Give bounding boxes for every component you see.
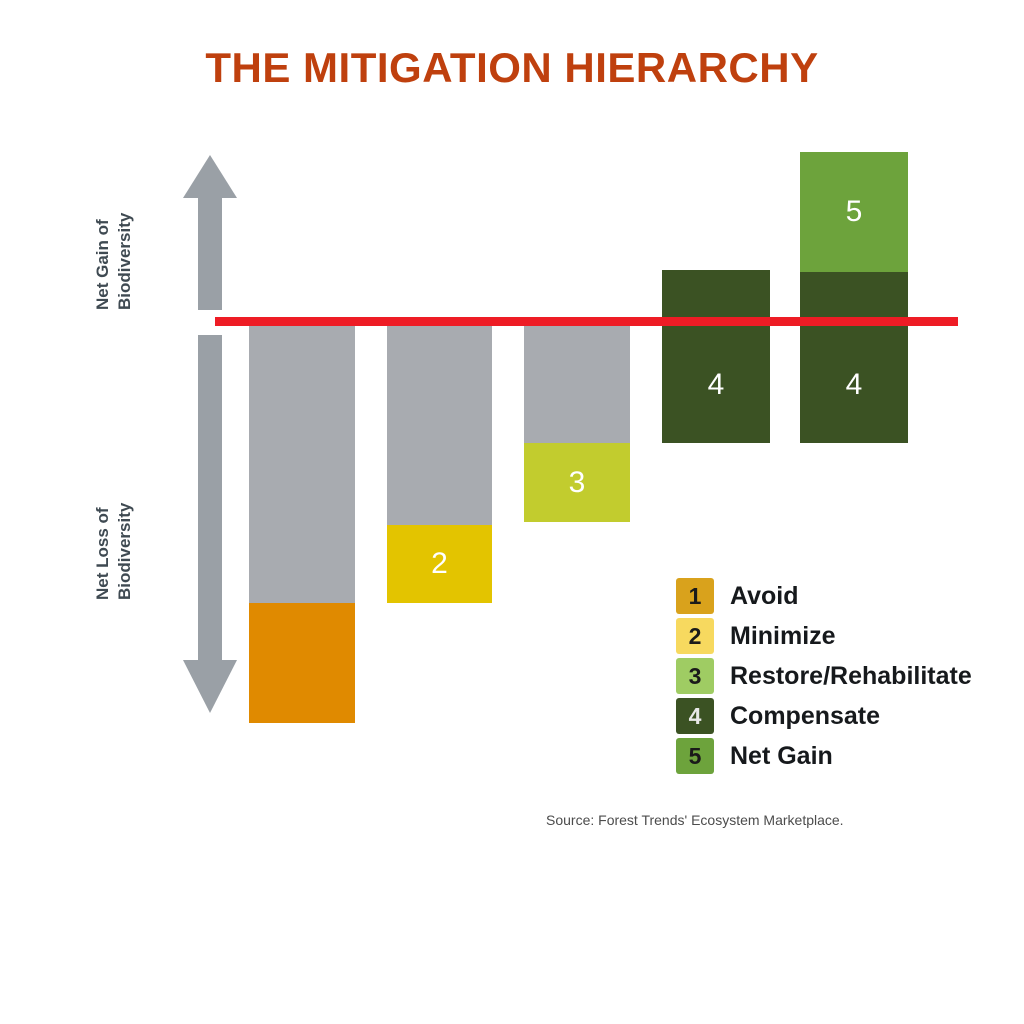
bar-5-segment-compensate: 4 (800, 272, 908, 443)
plot-area: 23454 (0, 0, 1024, 1024)
legend: 1Avoid2Minimize3Restore/Rehabilitate4Com… (676, 576, 972, 776)
legend-swatch-2: 2 (676, 618, 714, 654)
source-note: Source: Forest Trends' Ecosystem Marketp… (546, 812, 844, 828)
legend-label-1: Avoid (730, 582, 799, 611)
bar-2-segment-minimize: 2 (387, 525, 492, 603)
legend-label-5: Net Gain (730, 742, 833, 771)
bar-4-compensate-value-label: 4 (708, 368, 725, 402)
legend-item-net-gain[interactable]: 5Net Gain (676, 736, 972, 776)
legend-swatch-5: 5 (676, 738, 714, 774)
legend-label-2: Minimize (730, 622, 836, 651)
legend-swatch-1: 1 (676, 578, 714, 614)
legend-item-restore-rehabilitate[interactable]: 3Restore/Rehabilitate (676, 656, 972, 696)
legend-swatch-4: 4 (676, 698, 714, 734)
bar-5-compensate-value-label: 4 (846, 368, 863, 402)
legend-item-compensate[interactable]: 4Compensate (676, 696, 972, 736)
bar-4-segment-compensate: 4 (662, 270, 770, 443)
legend-label-3: Restore/Rehabilitate (730, 662, 972, 691)
legend-item-minimize[interactable]: 2Minimize (676, 616, 972, 656)
legend-item-avoid[interactable]: 1Avoid (676, 576, 972, 616)
bar-1-segment-residual-grey (249, 322, 355, 603)
bar-3-segment-residual-grey (524, 322, 630, 443)
bar-3-segment-restore: 3 (524, 443, 630, 522)
bar-2-segment-residual-grey (387, 322, 492, 525)
bar-5-segment-net-gain: 5 (800, 152, 908, 272)
bar-5-net-gain-value-label: 5 (846, 195, 863, 229)
bar-1-segment-avoid (249, 603, 355, 723)
chart-canvas: THE MITIGATION HIERARCHY Net Gain of Bio… (0, 0, 1024, 1024)
legend-swatch-3: 3 (676, 658, 714, 694)
legend-label-4: Compensate (730, 702, 880, 731)
bar-2-minimize-value-label: 2 (431, 547, 448, 581)
zero-baseline (215, 317, 958, 326)
bar-3-restore-value-label: 3 (569, 466, 586, 500)
